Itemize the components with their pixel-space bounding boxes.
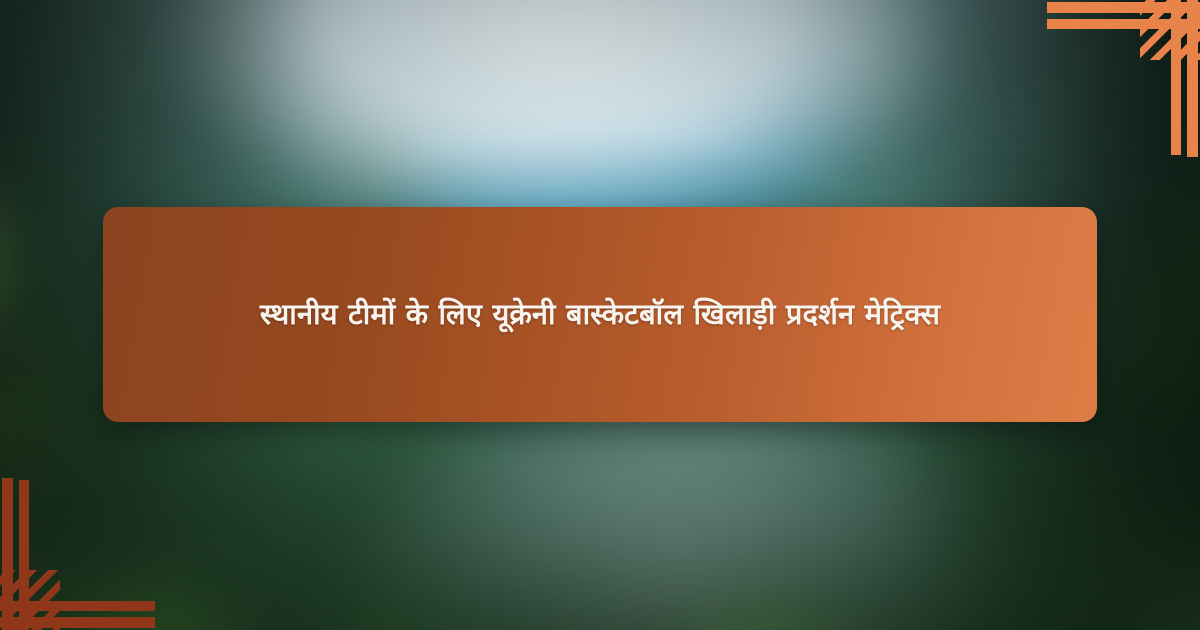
page-title: स्थानीय टीमों के लिए यूक्रेनी बास्केटबॉल…	[260, 291, 940, 338]
banner-stage: स्थानीय टीमों के लिए यूक्रेनी बास्केटबॉल…	[0, 0, 1200, 630]
title-card: स्थानीय टीमों के लिए यूक्रेनी बास्केटबॉल…	[103, 207, 1097, 422]
